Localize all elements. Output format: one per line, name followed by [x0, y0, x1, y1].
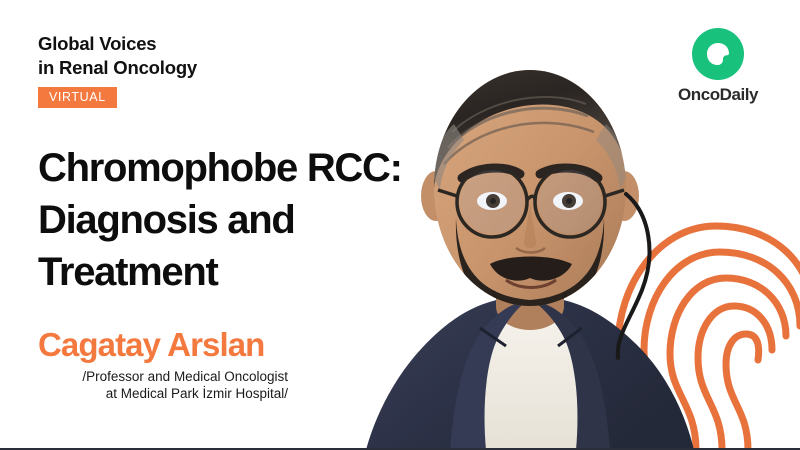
speaker-name: Cagatay Arslan [38, 326, 288, 364]
virtual-badge: VIRTUAL [38, 87, 117, 108]
page-title: Chromophobe RCC: Diagnosis and Treatment [38, 142, 402, 298]
series-title: Global Voices in Renal Oncology [38, 32, 197, 80]
brand-wordmark: OncoDaily [663, 85, 773, 105]
oncodaily-ring-icon [692, 28, 744, 80]
speaker-role: /Professor and Medical Oncologist at Med… [38, 368, 288, 402]
series-heading-block: Global Voices in Renal Oncology VIRTUAL [38, 32, 197, 108]
brand-logo: OncoDaily [663, 28, 773, 105]
speaker-block: Cagatay Arslan /Professor and Medical On… [38, 326, 288, 402]
presentation-slide: Global Voices in Renal Oncology VIRTUAL … [0, 0, 800, 450]
